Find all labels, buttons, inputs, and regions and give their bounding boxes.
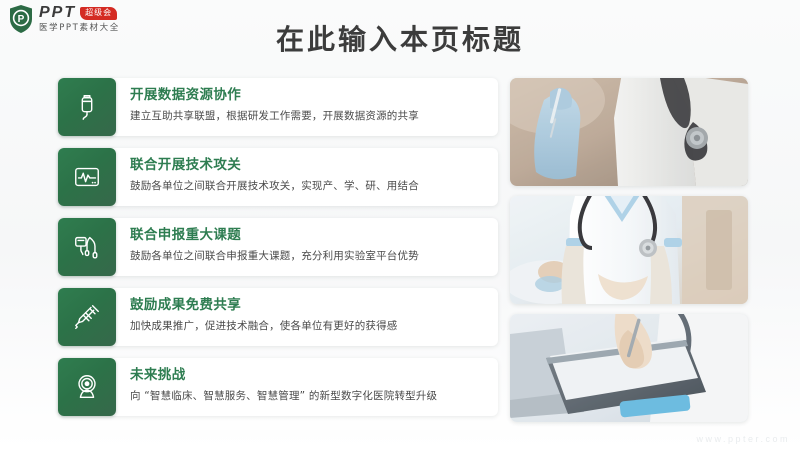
list-item[interactable]: 未来挑战 向 “智慧临床、智慧服务、智慧管理” 的新型数字化医院转型升级 (58, 358, 498, 416)
list-item-desc: 鼓励各单位之间联合开展技术攻关，实现产、学、研、用结合 (130, 180, 484, 193)
photo-doctor-clipboard (510, 314, 748, 422)
iv-drip-bag-icon (58, 78, 116, 136)
microscope-target-icon (58, 358, 116, 416)
doctor-writing-clipboard-image (510, 314, 748, 422)
list-item-title: 未来挑战 (130, 367, 484, 383)
list-item-desc: 建立互助共享联盟，根据研发工作需要，开展数据资源的共享 (130, 110, 484, 123)
list-item[interactable]: 开展数据资源协作 建立互助共享联盟，根据研发工作需要，开展数据资源的共享 (58, 78, 498, 136)
list-item-body: 联合申报重大课题 鼓励各单位之间联合申报重大课题，充分利用实验室平台优势 (116, 218, 498, 276)
photo-nurse-stethoscope (510, 196, 748, 304)
list-item[interactable]: 联合申报重大课题 鼓励各单位之间联合申报重大课题，充分利用实验室平台优势 (58, 218, 498, 276)
list-item-body: 未来挑战 向 “智慧临床、智慧服务、智慧管理” 的新型数字化医院转型升级 (116, 358, 498, 416)
syringe-icon (58, 288, 116, 346)
list-item-body: 联合开展技术攻关 鼓励各单位之间联合开展技术攻关，实现产、学、研、用结合 (116, 148, 498, 206)
blood-pressure-monitor-icon (58, 218, 116, 276)
list-item-body: 鼓励成果免费共享 加快成果推广，促进技术融合，使各单位有更好的获得感 (116, 288, 498, 346)
photo-doctor-syringe (510, 78, 748, 186)
list-item-body: 开展数据资源协作 建立互助共享联盟，根据研发工作需要，开展数据资源的共享 (116, 78, 498, 136)
page-title: 在此输入本页标题 (0, 18, 800, 58)
list-item-title: 鼓励成果免费共享 (130, 297, 484, 313)
list-item-desc: 加快成果推广，促进技术融合，使各单位有更好的获得感 (130, 320, 484, 333)
ecg-monitor-icon (58, 148, 116, 206)
feature-list: 开展数据资源协作 建立互助共享联盟，根据研发工作需要，开展数据资源的共享 联合开… (58, 78, 498, 416)
list-item-title: 联合申报重大课题 (130, 227, 484, 243)
slide-canvas: P PPT 超级会 医学PPT素材大全 在此输入本页标题 (0, 0, 800, 450)
list-item-desc: 向 “智慧临床、智慧服务、智慧管理” 的新型数字化医院转型升级 (130, 390, 484, 403)
list-item-title: 开展数据资源协作 (130, 87, 484, 103)
list-item[interactable]: 鼓励成果免费共享 加快成果推广，促进技术融合，使各单位有更好的获得感 (58, 288, 498, 346)
site-watermark: www.ppter.com (696, 434, 790, 444)
list-item-title: 联合开展技术攻关 (130, 157, 484, 173)
nurse-uniform-image (510, 196, 748, 304)
list-item[interactable]: 联合开展技术攻关 鼓励各单位之间联合开展技术攻关，实现产、学、研、用结合 (58, 148, 498, 206)
list-item-desc: 鼓励各单位之间联合申报重大课题，充分利用实验室平台优势 (130, 250, 484, 263)
doctor-holding-syringe-image (510, 78, 748, 186)
photo-column (510, 78, 748, 422)
